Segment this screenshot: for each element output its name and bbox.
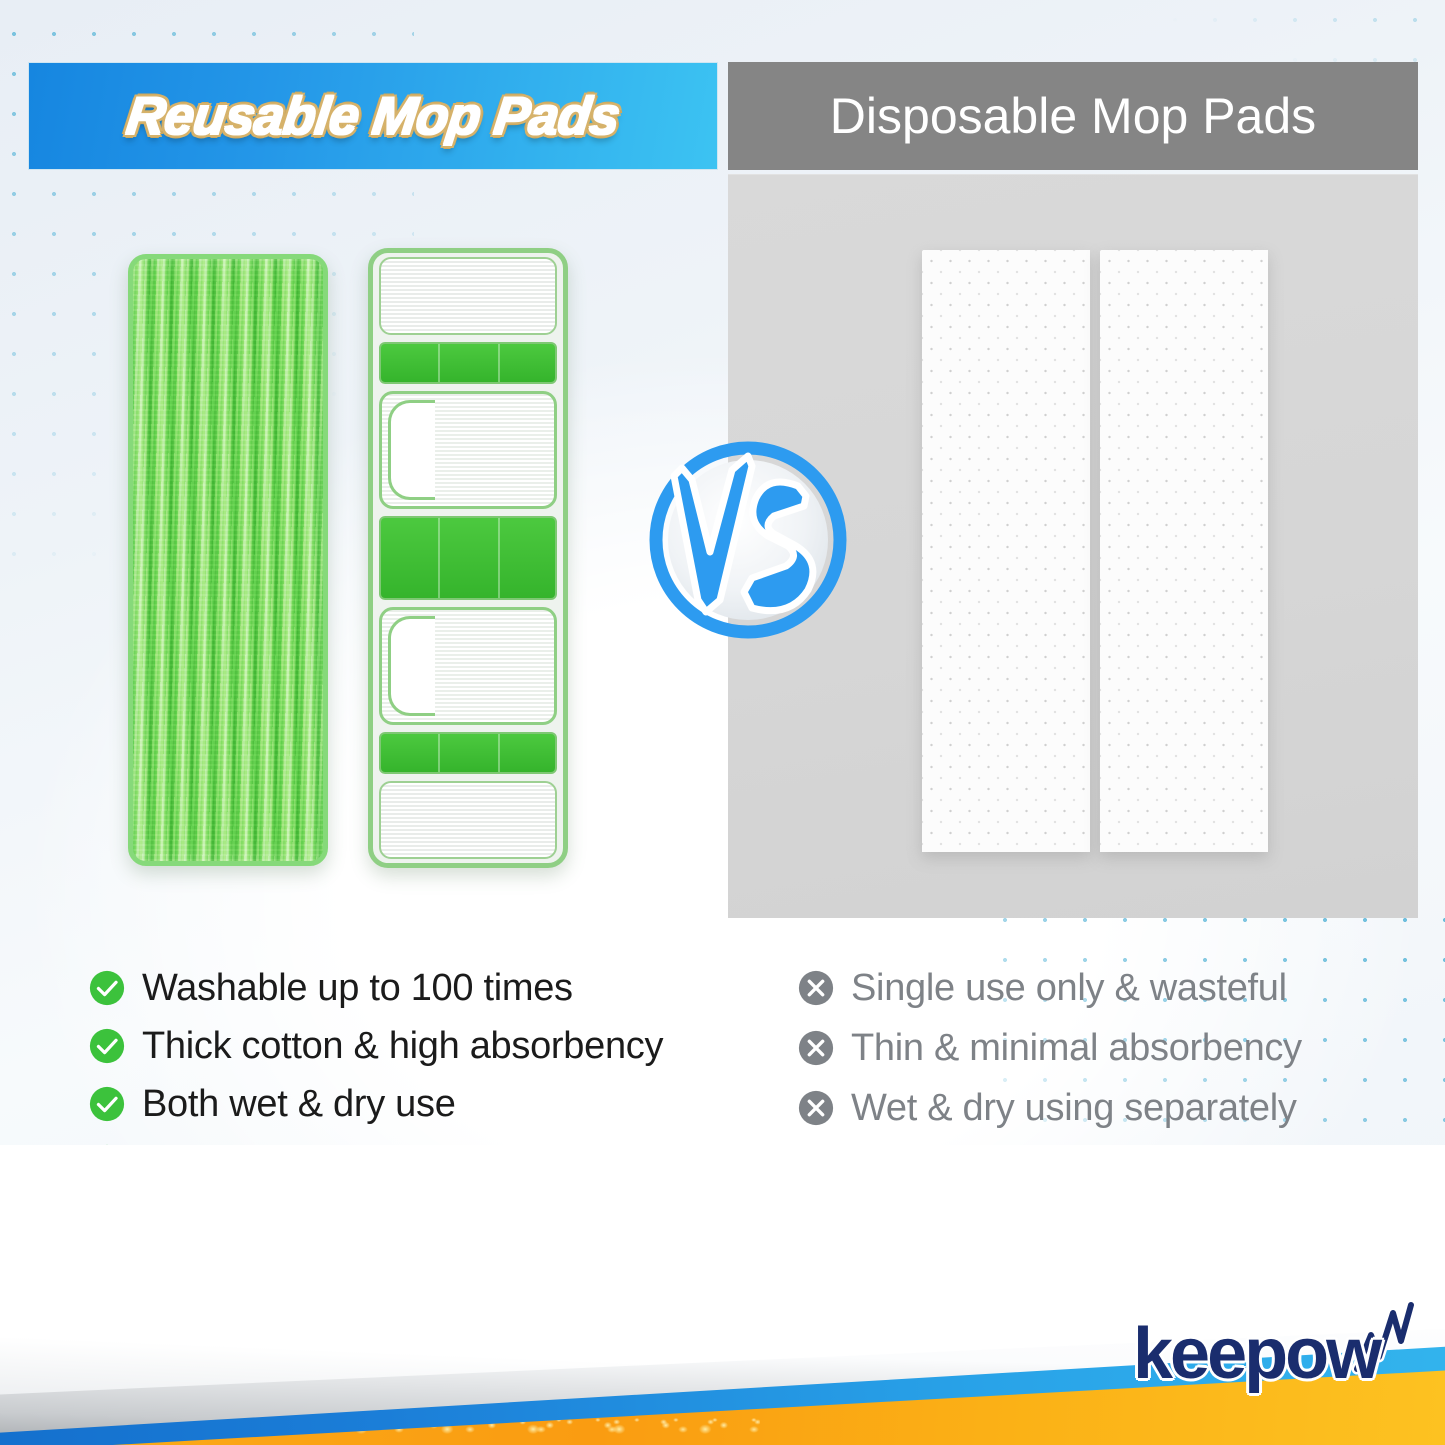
list-item: Wet & dry using separately (797, 1082, 1417, 1134)
brand-name: keepow (1133, 1313, 1379, 1395)
elastic-strap-bottom (379, 732, 557, 774)
list-item-label: Both wet & dry use (142, 1083, 456, 1126)
versus-icon (648, 440, 848, 640)
reusable-pad-velcro-back (368, 248, 568, 868)
list-item: Washable up to 100 times (88, 962, 748, 1014)
center-green-band (379, 516, 557, 600)
list-item: Thin & minimal absorbency (797, 1022, 1417, 1074)
reusable-product-image-group (120, 240, 580, 880)
dot-pattern-top-right (1155, 0, 1445, 70)
disposable-pad-2 (1100, 250, 1268, 852)
check-circle-icon (88, 969, 126, 1007)
elastic-strap-top (379, 342, 557, 384)
x-circle-icon (797, 1029, 835, 1067)
list-item: Single use only & wasteful (797, 962, 1417, 1014)
header-title-reusable: Reusable Mop Pads (123, 86, 623, 147)
list-item-label: Thin & minimal absorbency (851, 1027, 1302, 1070)
velcro-strip-top (379, 257, 557, 335)
list-item: Thick cotton & high absorbency (88, 1020, 748, 1072)
header-title-disposable: Disposable Mop Pads (830, 87, 1316, 145)
velcro-strip-bottom (379, 781, 557, 859)
list-item-label: Wet & dry using separately (851, 1087, 1297, 1130)
x-circle-icon (797, 969, 835, 1007)
header-banner-disposable: Disposable Mop Pads (728, 62, 1418, 170)
check-circle-icon (88, 1085, 126, 1123)
versus-badge (648, 440, 848, 640)
list-item: Both wet & dry use (88, 1078, 748, 1130)
list-item-label: Washable up to 100 times (142, 967, 573, 1010)
check-circle-icon (88, 1027, 126, 1065)
corner-pocket-top (379, 391, 557, 509)
disposable-pad-1 (922, 250, 1090, 852)
infographic-canvas: Reusable Mop Pads Disposable Mop Pads (0, 0, 1445, 1445)
list-item-label: Thick cotton & high absorbency (142, 1025, 663, 1068)
x-circle-icon (797, 1089, 835, 1127)
brand-logo-keepow: keepow (1125, 1295, 1415, 1405)
corner-pocket-bottom (379, 607, 557, 725)
list-item-label: Single use only & wasteful (851, 967, 1287, 1010)
reusable-pad-microfiber-face (128, 254, 328, 866)
header-banner-reusable: Reusable Mop Pads (28, 62, 718, 170)
